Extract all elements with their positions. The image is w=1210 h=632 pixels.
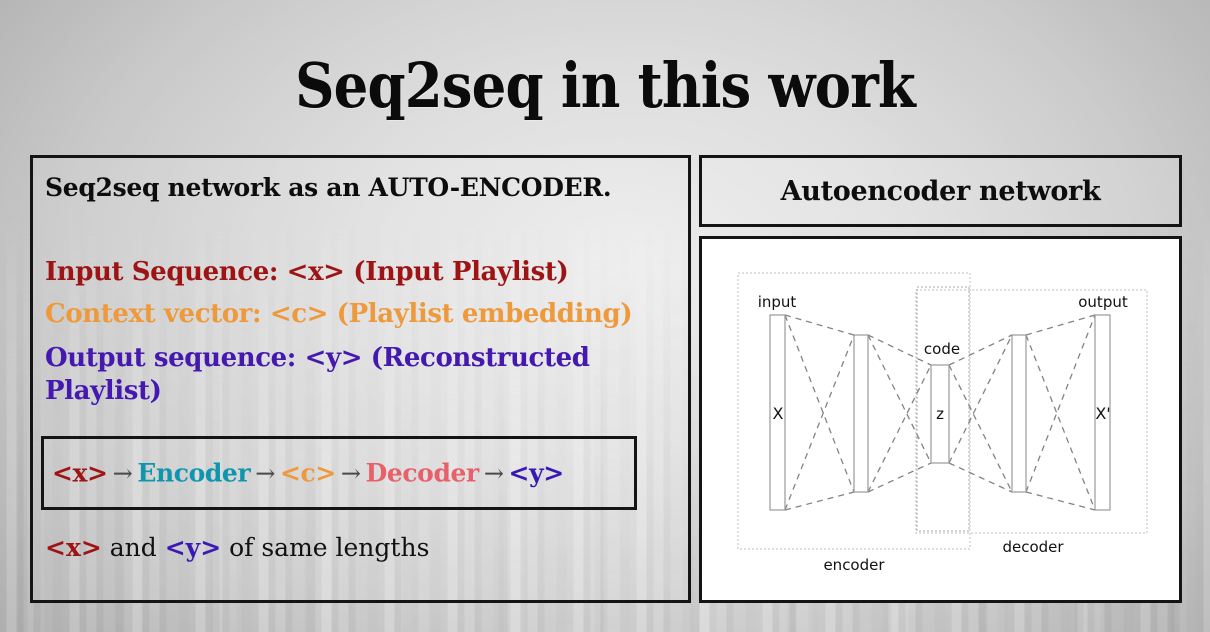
pipeline-row: <x>→Encoder→<c>→Decoder→<y> [44,459,634,488]
autoencoder-network-title: Autoencoder network [702,158,1179,224]
same-lengths-note: <x> and <y> of same lengths [41,533,429,562]
decoder-group-box [916,290,1147,533]
pipeline-arrow-3: → [336,460,366,488]
output-sequence-line: Output sequence: <y> (Reconstructed Play… [33,342,645,409]
diagram-label-z: z [936,405,944,423]
pipeline-box: <x>→Encoder→<c>→Decoder→<y> [41,436,637,510]
decoder-hidden-layer-bar [1012,335,1026,492]
left-content-panel: Seq2seq network as an AUTO-ENCODER. Inpu… [30,155,691,603]
diagram-label-x: X [773,404,784,423]
slide-canvas: Seq2seq in this work Seq2seq network as … [0,0,1210,632]
seq2seq-heading: Seq2seq network as an AUTO-ENCODER. [33,174,611,202]
autoencoder-diagram: input output code X z X' encoder decoder [702,239,1179,600]
pipeline-token-x: <x> [52,459,108,488]
footnote-token-y: <y> [165,533,221,562]
diagram-label-output: output [1078,293,1128,311]
pipeline-token-c: <c> [280,459,336,488]
slide-title: Seq2seq in this work [73,55,1138,117]
footnote-tail: of same lengths [221,533,429,562]
pipeline-token-encoder: Encoder [137,459,250,488]
encoder-hidden-layer-bar [854,335,868,492]
diagram-label-code: code [924,340,960,358]
diagram-label-decoder: decoder [1002,538,1064,556]
autoencoder-diagram-panel: input output code X z X' encoder decoder [699,236,1182,603]
diagram-label-input: input [758,293,797,311]
left-panel-inner: Seq2seq network as an AUTO-ENCODER. Inpu… [33,158,688,600]
input-sequence-line: Input Sequence: <x> (Input Playlist) [33,258,568,287]
pipeline-token-y: <y> [509,459,564,488]
footnote-conjunction: and [102,533,165,562]
pipeline-arrow-2: → [250,460,280,488]
pipeline-arrow-4: → [479,460,509,488]
autoencoder-header-panel: Autoencoder network [699,155,1182,227]
diagram-label-x-prime: X' [1095,404,1110,423]
pipeline-token-decoder: Decoder [366,459,479,488]
footnote-token-x: <x> [45,533,102,562]
context-vector-line: Context vector: <c> (Playlist embedding) [33,300,632,329]
diagram-label-encoder: encoder [823,556,885,574]
pipeline-arrow-1: → [108,460,138,488]
